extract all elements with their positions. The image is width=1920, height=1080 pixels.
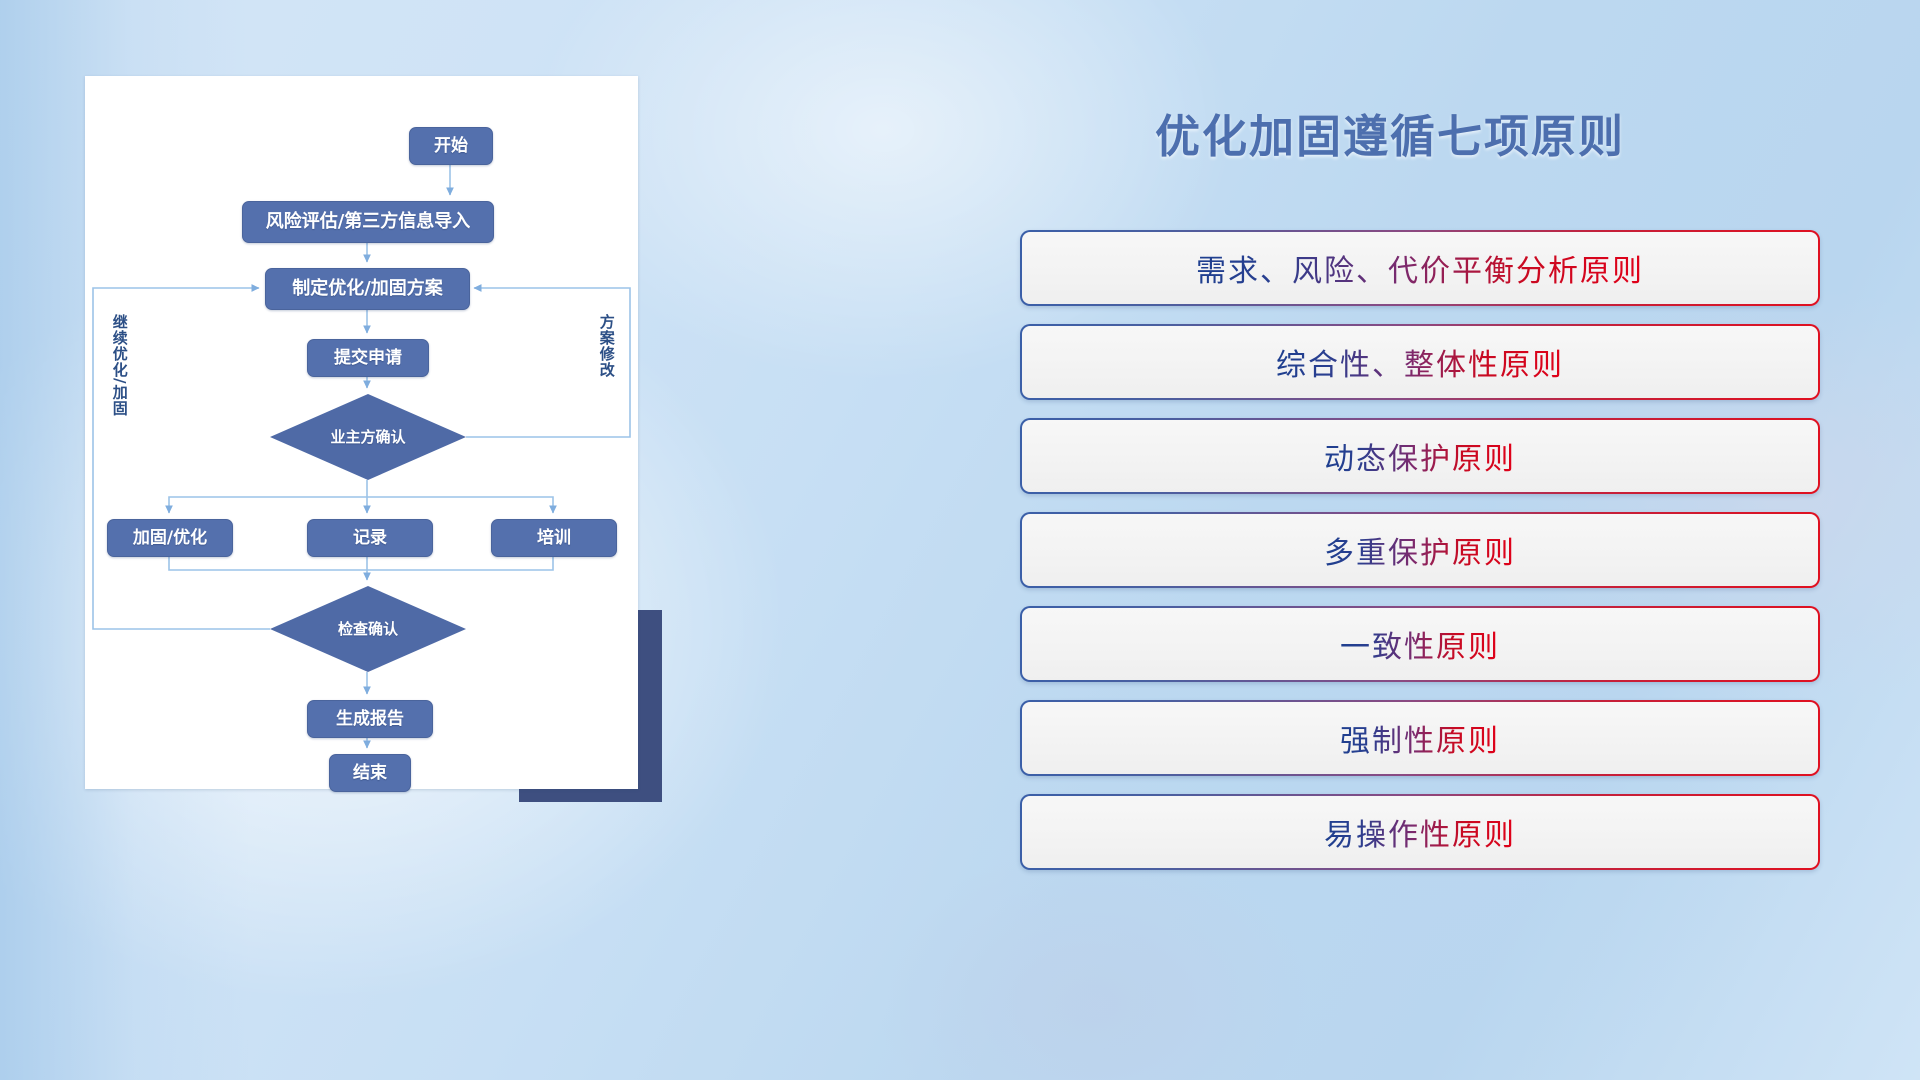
- flow-node-submit-application[interactable]: 提交申请: [307, 339, 429, 377]
- flow-node-label: 提交申请: [334, 350, 402, 367]
- principle-label: 易操作性原则: [1324, 810, 1516, 854]
- flow-node-training[interactable]: 培训: [491, 519, 617, 557]
- principle-card[interactable]: 多重保护原则: [1020, 512, 1820, 588]
- flow-node-label: 风险评估/第三方信息导入: [266, 213, 471, 231]
- principle-label: 多重保护原则: [1324, 528, 1516, 572]
- flowchart-panel: 开始 风险评估/第三方信息导入 制定优化/加固方案 提交申请 业主方确认 加固/…: [85, 76, 638, 789]
- principle-card[interactable]: 动态保护原则: [1020, 418, 1820, 494]
- principles-list: 需求、风险、代价平衡分析原则 综合性、整体性原则 动态保护原则 多重保护原则 一…: [1020, 230, 1820, 888]
- principle-label: 综合性、整体性原则: [1276, 340, 1564, 384]
- flow-node-plan[interactable]: 制定优化/加固方案: [265, 268, 470, 310]
- flow-node-label: 结束: [353, 765, 387, 782]
- principle-card-inner: 易操作性原则: [1022, 796, 1818, 868]
- principles-panel: 优化加固遵循七项原则 需求、风险、代价平衡分析原则 综合性、整体性原则 动态保护…: [1020, 80, 1860, 1000]
- principle-card[interactable]: 强制性原则: [1020, 700, 1820, 776]
- principle-card-inner: 需求、风险、代价平衡分析原则: [1022, 232, 1818, 304]
- principle-card[interactable]: 综合性、整体性原则: [1020, 324, 1820, 400]
- flow-node-label: 制定优化/加固方案: [292, 280, 443, 298]
- flow-loop-label-plan-revision: 方案修改: [598, 314, 614, 378]
- principle-label: 强制性原则: [1340, 716, 1500, 760]
- principle-label: 一致性原则: [1340, 622, 1500, 666]
- flow-node-generate-report[interactable]: 生成报告: [307, 700, 433, 738]
- flow-node-inspection-confirm[interactable]: 检查确认: [270, 586, 466, 672]
- flow-node-label: 加固/优化: [133, 530, 207, 547]
- principle-label: 需求、风险、代价平衡分析原则: [1196, 246, 1644, 290]
- flow-node-label: 生成报告: [336, 711, 404, 728]
- principle-card-inner: 动态保护原则: [1022, 420, 1818, 492]
- principle-card[interactable]: 一致性原则: [1020, 606, 1820, 682]
- flow-node-label: 培训: [537, 530, 571, 547]
- flow-node-label: 开始: [434, 138, 468, 155]
- flow-node-label: 业主方确认: [330, 430, 405, 445]
- flow-node-record[interactable]: 记录: [307, 519, 433, 557]
- principle-card[interactable]: 易操作性原则: [1020, 794, 1820, 870]
- flow-node-start[interactable]: 开始: [409, 127, 493, 165]
- flow-loop-label-continue-optimize: 继续优化/加固: [111, 314, 127, 416]
- principle-card[interactable]: 需求、风险、代价平衡分析原则: [1020, 230, 1820, 306]
- principle-card-inner: 一致性原则: [1022, 608, 1818, 680]
- flow-node-reinforce-optimize[interactable]: 加固/优化: [107, 519, 233, 557]
- flow-node-owner-confirm[interactable]: 业主方确认: [270, 394, 466, 480]
- flow-node-label: 记录: [353, 530, 387, 547]
- flow-node-risk-assessment[interactable]: 风险评估/第三方信息导入: [242, 201, 494, 243]
- principle-card-inner: 综合性、整体性原则: [1022, 326, 1818, 398]
- flow-node-end[interactable]: 结束: [329, 754, 411, 792]
- principle-card-inner: 强制性原则: [1022, 702, 1818, 774]
- principle-card-inner: 多重保护原则: [1022, 514, 1818, 586]
- page-title: 优化加固遵循七项原则: [1155, 100, 1625, 165]
- flow-node-label: 检查确认: [338, 622, 398, 637]
- principle-label: 动态保护原则: [1324, 434, 1516, 478]
